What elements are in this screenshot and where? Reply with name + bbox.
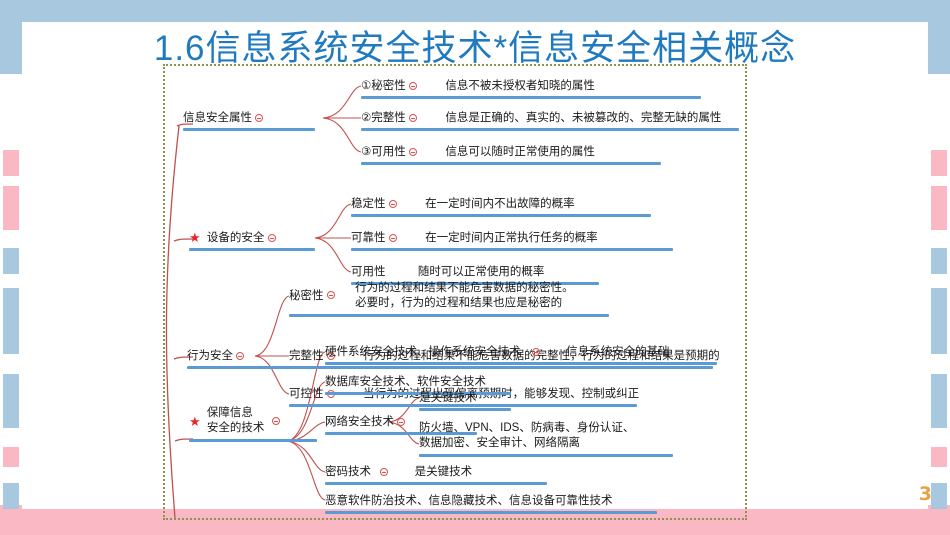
circle-minus-icon[interactable] — [272, 417, 280, 425]
circle-minus-icon[interactable] — [327, 291, 335, 299]
child-node-4-3[interactable]: 网络安全技术 — [325, 415, 405, 429]
branch-node-2[interactable]: ★ 设备的安全 — [189, 231, 276, 245]
grandchild-detail-line1: 防火墙、VPN、IDS、防病毒、身份认证、 — [419, 421, 634, 436]
circle-minus-icon[interactable] — [409, 82, 417, 90]
circle-minus-icon[interactable] — [268, 234, 276, 242]
star-icon: ★ — [189, 232, 201, 243]
branch-node-4[interactable]: ★ 保障信息 安全的技术 — [189, 406, 280, 436]
child-detail: 信息是正确的、真实的、未被篡改的、完整无缺的属性 — [445, 111, 721, 125]
child-detail: 在一定时间内不出故障的概率 — [425, 197, 575, 211]
child-detail: 是关键技术 — [415, 465, 473, 479]
circle-minus-icon[interactable] — [255, 114, 263, 122]
circle-minus-icon[interactable] — [380, 468, 388, 476]
child-label: 密码技术 — [325, 465, 371, 479]
child-label: ②完整性 — [361, 111, 406, 125]
corner-bottom-right — [928, 505, 950, 535]
child-detail: 信息可以随时正常使用的属性 — [445, 145, 595, 159]
child-label: 数据库安全技术、软件安全技术 — [325, 375, 486, 389]
grandchild-detail-line2: 数据加密、安全审计、网络隔离 — [419, 436, 634, 451]
circle-minus-icon[interactable] — [409, 114, 417, 122]
child-node-4-1[interactable]: 硬件系统安全技术、操作系统安全技术 信息系统安全的基础 — [325, 345, 670, 359]
top-band — [0, 0, 950, 22]
child-label: 硬件系统安全技术、操作系统安全技术 — [325, 345, 521, 359]
child-label: 秘密性 — [289, 289, 324, 304]
child-label: 可用性 — [351, 265, 386, 279]
page-number: 3 — [919, 483, 932, 505]
child-detail: 信息系统安全的基础 — [566, 345, 670, 359]
mindmap-panel: 信息安全属性 ①秘密性 信息不被未授权者知晓的属性 ②完整性 信息是正确的、真实… — [163, 64, 747, 520]
child-node-3-1[interactable]: 秘密性 行为的过程和结果不能危害数据的秘密性。 必要时，行为的过程和结果也应是秘… — [289, 281, 574, 311]
circle-minus-icon[interactable] — [532, 348, 540, 356]
grandchild-detail: 是关键技术 — [419, 391, 477, 405]
child-node-1-2[interactable]: ②完整性 信息是正确的、真实的、未被篡改的、完整无缺的属性 — [361, 111, 721, 125]
child-label: 网络安全技术 — [325, 415, 394, 429]
circle-minus-icon[interactable] — [389, 200, 397, 208]
child-label: 可控性 — [289, 387, 324, 401]
child-label: ①秘密性 — [361, 79, 406, 93]
child-label: 可靠性 — [351, 231, 386, 245]
child-detail-line2: 必要时，行为的过程和结果也应是秘密的 — [355, 296, 574, 311]
child-node-4-5[interactable]: 恶意软件防治技术、信息隐藏技术、信息设备可靠性技术 — [325, 494, 613, 508]
child-detail: 在一定时间内正常执行任务的概率 — [425, 231, 598, 245]
child-detail: 信息不被未授权者知晓的属性 — [445, 79, 595, 93]
child-node-4-2[interactable]: 数据库安全技术、软件安全技术 — [325, 375, 486, 389]
child-node-2-1[interactable]: 稳定性 在一定时间内不出故障的概率 — [351, 197, 575, 211]
child-node-1-3[interactable]: ③可用性 信息可以随时正常使用的属性 — [361, 145, 595, 159]
circle-minus-icon[interactable] — [397, 418, 405, 426]
child-node-2-3[interactable]: 可用性 随时可以正常使用的概率 — [351, 265, 544, 279]
child-label: 恶意软件防治技术、信息隐藏技术、信息设备可靠性技术 — [325, 494, 613, 508]
child-label: ③可用性 — [361, 145, 406, 159]
circle-minus-icon[interactable] — [389, 234, 397, 242]
branch-label-4-line2: 安全的技术 — [207, 421, 265, 436]
circle-minus-icon[interactable] — [409, 148, 417, 156]
grandchild-node-4-3-2[interactable]: 防火墙、VPN、IDS、防病毒、身份认证、 数据加密、安全审计、网络隔离 — [419, 421, 634, 451]
branch-label-3: 行为安全 — [187, 349, 233, 363]
child-node-2-2[interactable]: 可靠性 在一定时间内正常执行任务的概率 — [351, 231, 598, 245]
branch-node-3[interactable]: 行为安全 — [187, 349, 244, 363]
child-label: 稳定性 — [351, 197, 386, 211]
grandchild-node-4-3-1[interactable]: 是关键技术 — [419, 391, 477, 405]
corner-bottom-left — [0, 505, 22, 535]
child-node-1-1[interactable]: ①秘密性 信息不被未授权者知晓的属性 — [361, 79, 595, 93]
branch-node-1[interactable]: 信息安全属性 — [183, 111, 263, 125]
circle-minus-icon[interactable] — [236, 352, 244, 360]
child-detail: 随时可以正常使用的概率 — [418, 265, 545, 279]
branch-label-4-line1: 保障信息 — [207, 406, 265, 421]
star-icon: ★ — [189, 416, 201, 427]
child-node-4-4[interactable]: 密码技术 是关键技术 — [325, 465, 472, 479]
child-detail-line1: 行为的过程和结果不能危害数据的秘密性。 — [355, 281, 574, 296]
branch-label-1: 信息安全属性 — [183, 111, 252, 125]
child-label: 完整性 — [289, 349, 324, 363]
branch-label-2: 设备的安全 — [207, 231, 265, 245]
